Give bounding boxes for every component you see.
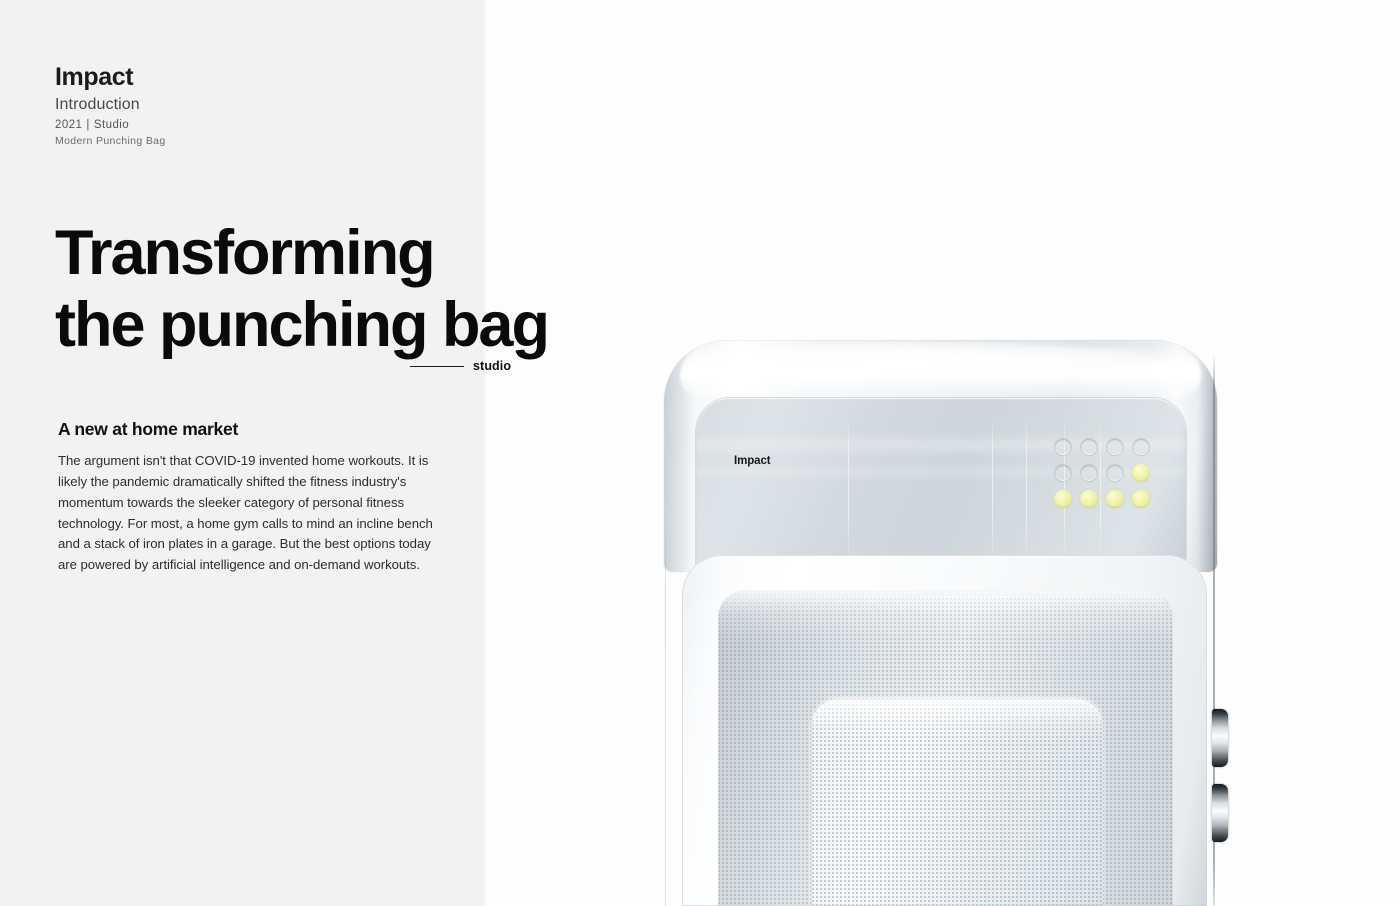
led-indicator[interactable] xyxy=(1132,438,1150,456)
device-logo: Impact xyxy=(734,455,770,467)
panel-seam xyxy=(992,416,993,564)
device-lower-body xyxy=(682,555,1207,906)
device-left-outline xyxy=(665,510,666,906)
headline-line-2: the punching bag xyxy=(55,290,548,362)
header-separator: | xyxy=(82,119,93,131)
header-block: Impact Introduction 2021|Studio Modern P… xyxy=(55,64,166,150)
page-title: Transforming the punching bag xyxy=(55,218,548,362)
brand-title: Impact xyxy=(55,64,166,92)
led-indicator[interactable] xyxy=(1080,438,1098,456)
section-paragraph: The argument isn't that COVID-19 invente… xyxy=(58,451,448,576)
led-indicator[interactable] xyxy=(1106,464,1124,482)
horizontal-rule-icon xyxy=(410,366,464,367)
header-meta-sub: Modern Punching Bag xyxy=(55,134,166,150)
panel-seam xyxy=(1026,416,1027,564)
led-indicator[interactable] xyxy=(1132,464,1150,482)
side-button-upper[interactable] xyxy=(1212,709,1228,767)
led-indicator[interactable] xyxy=(1054,464,1072,482)
led-indicator[interactable] xyxy=(1080,490,1098,508)
body-rim xyxy=(682,555,1207,906)
led-indicator[interactable] xyxy=(1080,464,1098,482)
panel-seam xyxy=(848,416,849,564)
section-heading: A new at home market xyxy=(58,419,448,440)
slide-canvas: Impact Introduction 2021|Studio Modern P… xyxy=(0,0,1400,906)
studio-tag-label: studio xyxy=(473,359,511,373)
led-indicator[interactable] xyxy=(1054,490,1072,508)
studio-tag-group: studio xyxy=(410,359,511,373)
product-render: Impact xyxy=(664,340,1217,906)
led-indicator[interactable] xyxy=(1132,490,1150,508)
led-indicator[interactable] xyxy=(1106,490,1124,508)
header-meta: 2021|Studio xyxy=(55,117,166,134)
headline-line-1: Transforming xyxy=(55,218,434,288)
shell-specular-core xyxy=(708,342,1138,368)
header-studio: Studio xyxy=(94,119,129,131)
led-indicator[interactable] xyxy=(1106,438,1124,456)
header-subtitle: Introduction xyxy=(55,94,166,116)
intro-copy-block: A new at home market The argument isn't … xyxy=(58,419,448,576)
header-year: 2021 xyxy=(55,119,82,131)
side-button-lower[interactable] xyxy=(1212,784,1228,842)
led-indicator-grid[interactable] xyxy=(1050,434,1154,512)
led-indicator[interactable] xyxy=(1054,438,1072,456)
